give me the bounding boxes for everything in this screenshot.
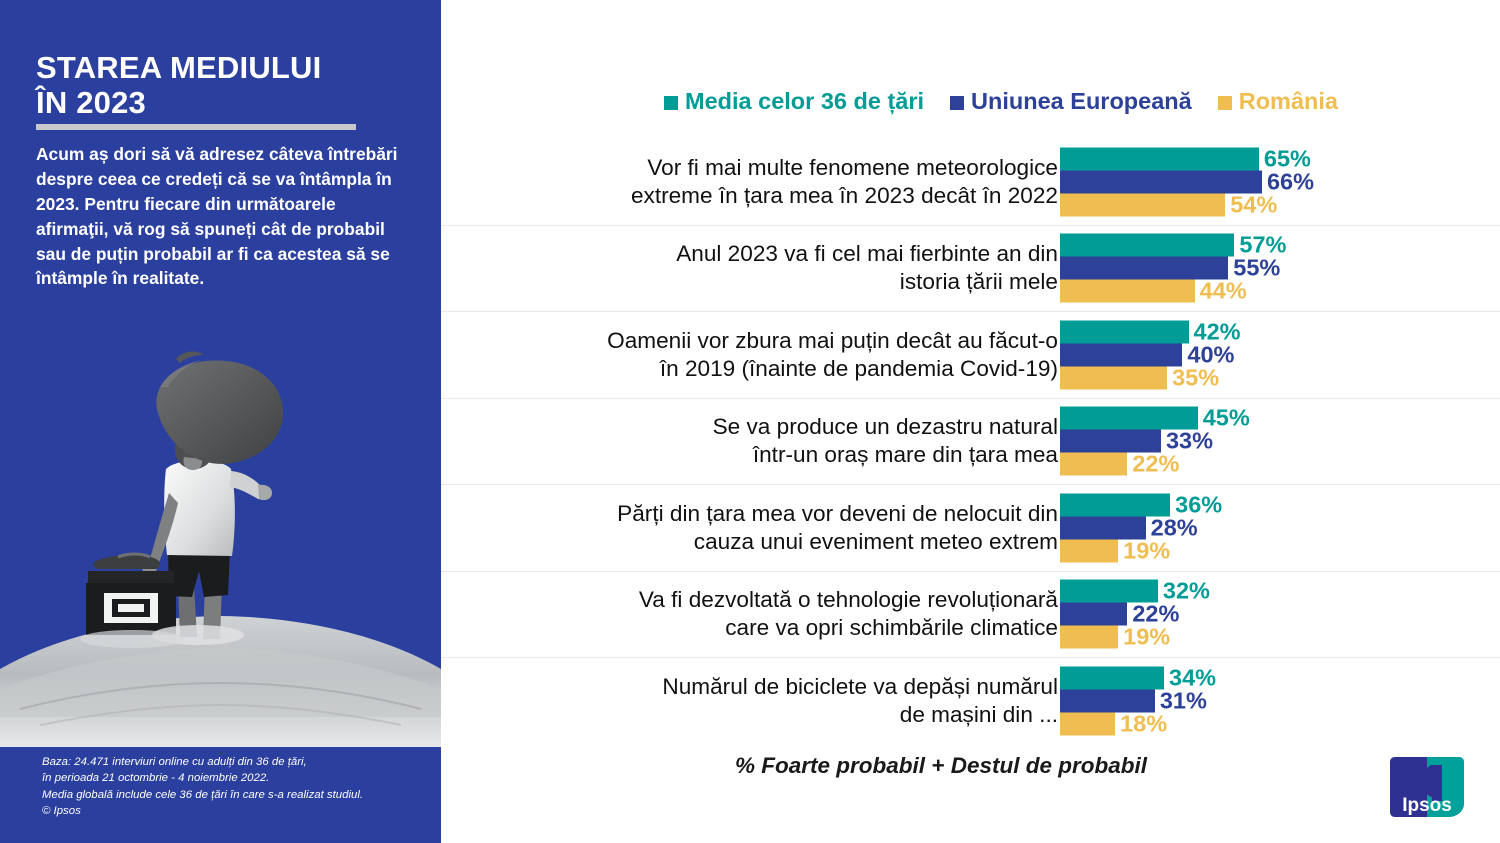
bar[interactable] bbox=[1060, 666, 1164, 689]
chart-row-label: Părți din țara mea vor deveni de nelocui… bbox=[478, 500, 1058, 556]
bar[interactable] bbox=[1060, 366, 1167, 389]
bar[interactable] bbox=[1060, 257, 1228, 280]
bar[interactable] bbox=[1060, 193, 1225, 216]
title-divider bbox=[36, 124, 356, 130]
intro-paragraph: Acum aș dori să vă adresez câteva întreb… bbox=[36, 142, 408, 291]
chart-row-bars: 45%33%22% bbox=[1060, 407, 1480, 476]
bar-value-label: 19% bbox=[1123, 626, 1170, 650]
page-title: STAREA MEDIULUI ÎN 2023 bbox=[36, 50, 416, 121]
bar-value-label: 33% bbox=[1166, 430, 1213, 454]
bar[interactable] bbox=[1060, 280, 1195, 303]
chart-row-label: Oamenii vor zbura mai puțin decât au făc… bbox=[478, 327, 1058, 383]
legend-swatch-icon bbox=[1218, 96, 1232, 110]
bar[interactable] bbox=[1060, 626, 1118, 649]
bar[interactable] bbox=[1060, 170, 1262, 193]
bar-group-1: 33% bbox=[1060, 430, 1480, 453]
ipsos-logo: Ipsos bbox=[1385, 751, 1469, 821]
bar-group-1: 28% bbox=[1060, 516, 1480, 539]
bar-group-0: 32% bbox=[1060, 580, 1480, 603]
bar[interactable] bbox=[1060, 689, 1155, 712]
bar-group-0: 36% bbox=[1060, 493, 1480, 516]
bar-value-label: 65% bbox=[1264, 147, 1311, 171]
chart-row-bars: 36%28%19% bbox=[1060, 493, 1480, 562]
chart-row-bars: 42%40%35% bbox=[1060, 320, 1480, 389]
chart-row: Vor fi mai multe fenomene meteorologice … bbox=[441, 139, 1500, 226]
source-footnote: Baza: 24.471 interviuri online cu adulți… bbox=[42, 754, 422, 820]
chart-row: Va fi dezvoltată o tehnologie revoluțion… bbox=[441, 572, 1500, 659]
chart-footer-caption: % Foarte probabil + Destul de probabil bbox=[441, 753, 1441, 779]
bar[interactable] bbox=[1060, 343, 1182, 366]
bar-group-1: 31% bbox=[1060, 689, 1480, 712]
bar-group-0: 45% bbox=[1060, 407, 1480, 430]
bar-group-1: 55% bbox=[1060, 257, 1480, 280]
bar-value-label: 22% bbox=[1132, 603, 1179, 627]
bar[interactable] bbox=[1060, 430, 1161, 453]
bar-value-label: 36% bbox=[1175, 493, 1222, 517]
legend-item-2[interactable]: România bbox=[1218, 88, 1338, 115]
chart-panel: Media celor 36 de țăriUniunea EuropeanăR… bbox=[441, 0, 1500, 843]
bar[interactable] bbox=[1060, 539, 1118, 562]
legend-swatch-icon bbox=[664, 96, 678, 110]
bar[interactable] bbox=[1060, 580, 1158, 603]
bar-group-1: 40% bbox=[1060, 343, 1480, 366]
bar-group-2: 18% bbox=[1060, 712, 1480, 735]
chart-row-bars: 57%55%44% bbox=[1060, 234, 1480, 303]
sidebar-panel: STAREA MEDIULUI ÎN 2023 Acum aș dori să … bbox=[0, 0, 441, 843]
bar-group-2: 22% bbox=[1060, 453, 1480, 476]
bar-chart-rows: Vor fi mai multe fenomene meteorologice … bbox=[441, 139, 1500, 744]
chart-row-label: Anul 2023 va fi cel mai fierbinte an din… bbox=[478, 240, 1058, 296]
bar[interactable] bbox=[1060, 516, 1146, 539]
bar[interactable] bbox=[1060, 407, 1198, 430]
bar-group-2: 19% bbox=[1060, 626, 1480, 649]
svg-text:Ipsos: Ipsos bbox=[1402, 795, 1452, 816]
bar-group-2: 44% bbox=[1060, 280, 1480, 303]
bar-group-2: 54% bbox=[1060, 193, 1480, 216]
bar[interactable] bbox=[1060, 712, 1115, 735]
legend-swatch-icon bbox=[950, 96, 964, 110]
bar[interactable] bbox=[1060, 147, 1259, 170]
bar-value-label: 28% bbox=[1151, 516, 1198, 540]
legend-label: România bbox=[1239, 88, 1338, 115]
chart-row-bars: 34%31%18% bbox=[1060, 666, 1480, 735]
chart-row: Se va produce un dezastru natural într-u… bbox=[441, 399, 1500, 486]
bar[interactable] bbox=[1060, 603, 1127, 626]
chart-legend: Media celor 36 de țăriUniunea EuropeanăR… bbox=[591, 88, 1411, 115]
bar-value-label: 57% bbox=[1239, 234, 1286, 258]
bar-value-label: 66% bbox=[1267, 170, 1314, 194]
bar-value-label: 32% bbox=[1163, 580, 1210, 604]
bar-group-0: 65% bbox=[1060, 147, 1480, 170]
bar-value-label: 40% bbox=[1187, 343, 1234, 367]
bar-group-0: 42% bbox=[1060, 320, 1480, 343]
bar-value-label: 22% bbox=[1132, 453, 1179, 477]
bar-value-label: 19% bbox=[1123, 539, 1170, 563]
bar[interactable] bbox=[1060, 493, 1170, 516]
bar-group-0: 34% bbox=[1060, 666, 1480, 689]
bar[interactable] bbox=[1060, 234, 1234, 257]
chart-row: Anul 2023 va fi cel mai fierbinte an din… bbox=[441, 226, 1500, 313]
bar[interactable] bbox=[1060, 320, 1189, 343]
bar-value-label: 45% bbox=[1203, 407, 1250, 431]
bar-group-1: 22% bbox=[1060, 603, 1480, 626]
bar-value-label: 54% bbox=[1230, 193, 1277, 217]
chart-row-bars: 65%66%54% bbox=[1060, 147, 1480, 216]
legend-label: Uniunea Europeană bbox=[971, 88, 1192, 115]
legend-item-0[interactable]: Media celor 36 de țări bbox=[664, 88, 924, 115]
bar-value-label: 42% bbox=[1194, 320, 1241, 344]
legend-label: Media celor 36 de țări bbox=[685, 88, 924, 115]
bar-group-2: 19% bbox=[1060, 539, 1480, 562]
bar-value-label: 55% bbox=[1233, 257, 1280, 281]
bar-value-label: 35% bbox=[1172, 366, 1219, 390]
flood-photo bbox=[0, 317, 441, 747]
bar-value-label: 18% bbox=[1120, 712, 1167, 736]
bar-group-1: 66% bbox=[1060, 170, 1480, 193]
bar[interactable] bbox=[1060, 453, 1127, 476]
bar-group-0: 57% bbox=[1060, 234, 1480, 257]
chart-row: Oamenii vor zbura mai puțin decât au făc… bbox=[441, 312, 1500, 399]
chart-row-bars: 32%22%19% bbox=[1060, 580, 1480, 649]
chart-row: Numărul de biciclete va depăși numărul d… bbox=[441, 658, 1500, 744]
chart-row-label: Numărul de biciclete va depăși numărul d… bbox=[478, 673, 1058, 729]
chart-row-label: Va fi dezvoltată o tehnologie revoluțion… bbox=[478, 586, 1058, 642]
legend-item-1[interactable]: Uniunea Europeană bbox=[950, 88, 1192, 115]
chart-row: Părți din țara mea vor deveni de nelocui… bbox=[441, 485, 1500, 572]
bar-group-2: 35% bbox=[1060, 366, 1480, 389]
bar-value-label: 44% bbox=[1200, 280, 1247, 304]
bar-value-label: 34% bbox=[1169, 666, 1216, 690]
bar-value-label: 31% bbox=[1160, 689, 1207, 713]
chart-row-label: Se va produce un dezastru natural într-u… bbox=[478, 413, 1058, 469]
chart-row-label: Vor fi mai multe fenomene meteorologice … bbox=[478, 154, 1058, 210]
